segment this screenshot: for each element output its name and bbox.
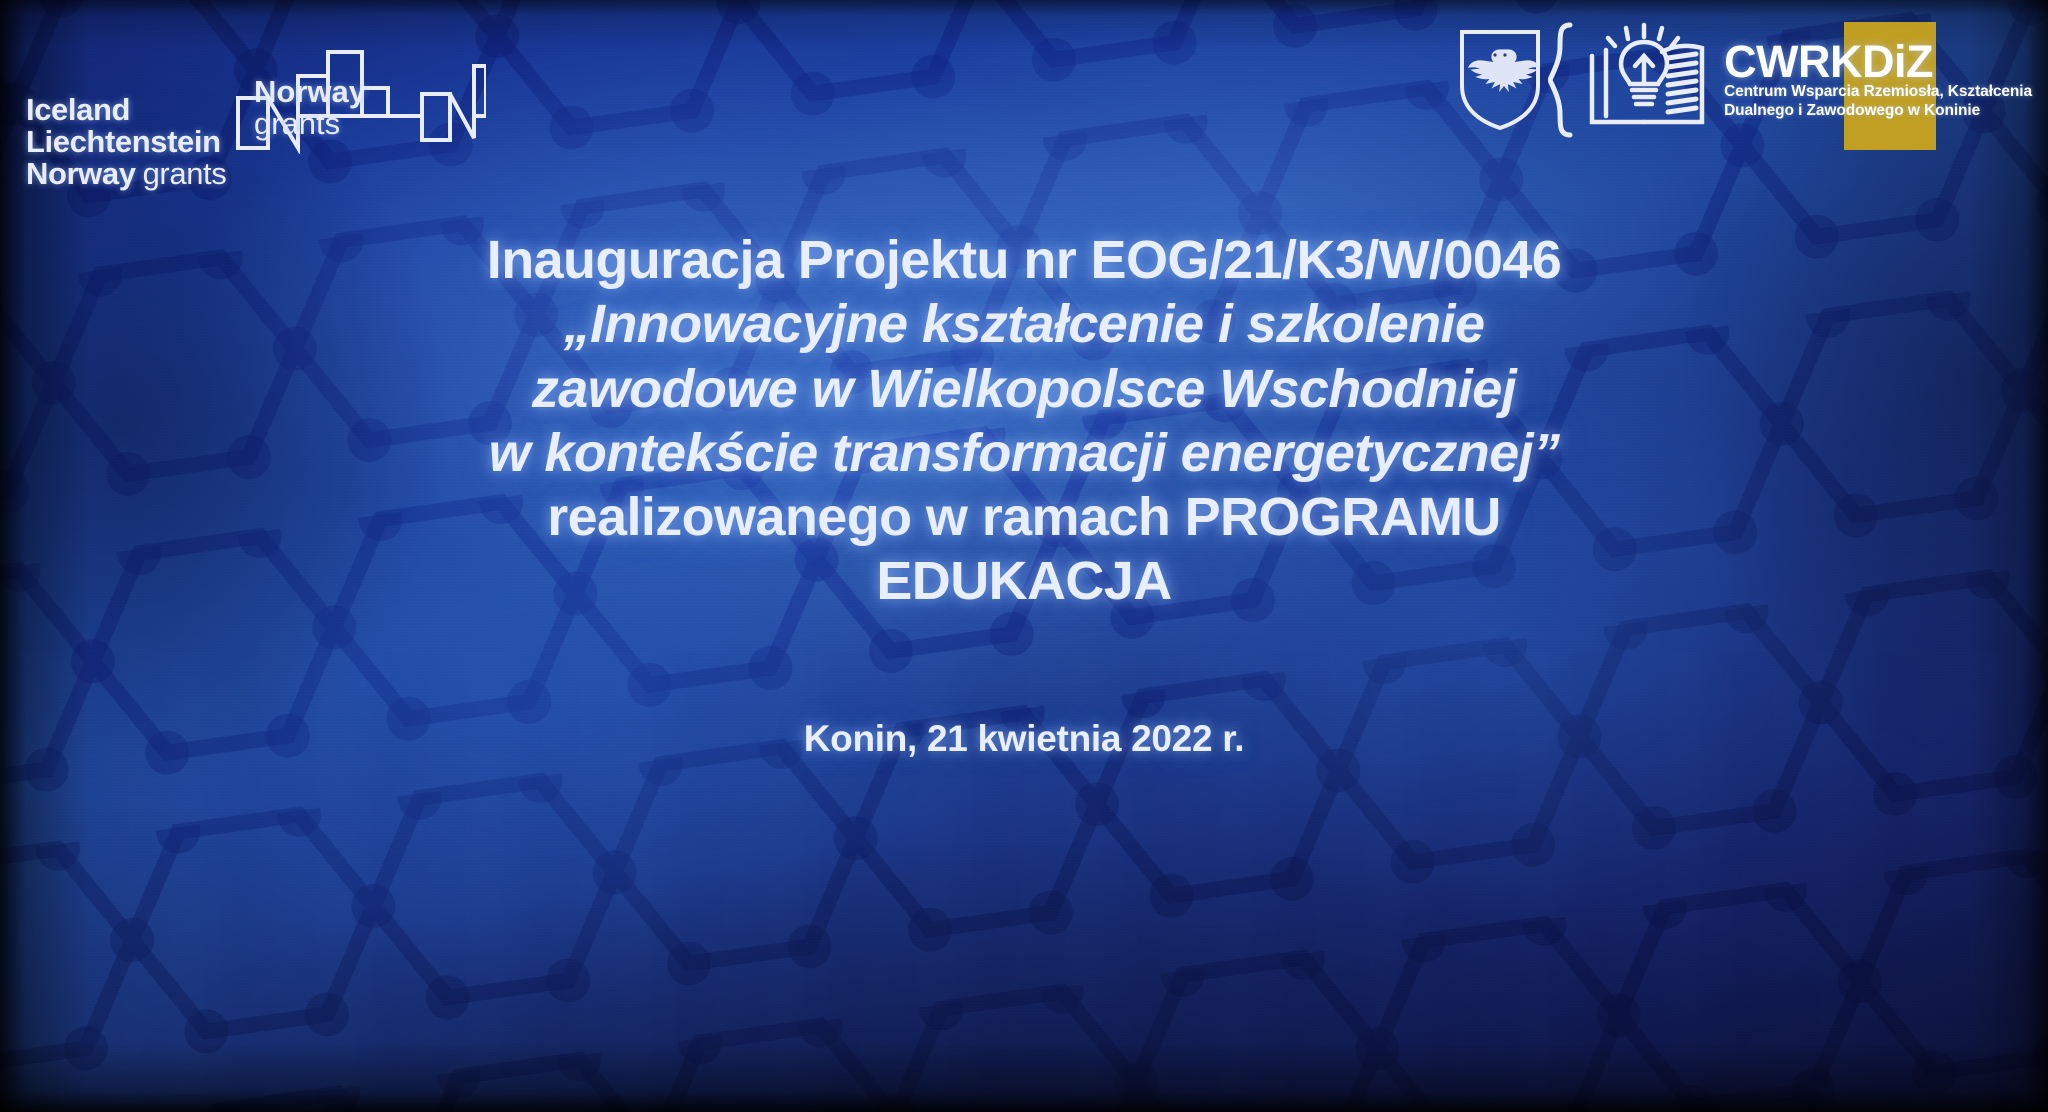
presentation-slide: Iceland Liechtenstein Norway grants <box>0 0 2048 1112</box>
slide-title-line-4: w kontekście transformacji energetycznej… <box>0 421 2048 485</box>
cwrkdiz-title: CWRKDiZ <box>1724 40 2032 83</box>
eea-logo-norway-bold: Norway <box>26 158 136 190</box>
cwrkdiz-wordmark: CWRKDiZ Centrum Wsparcia Rzemiosła, Kszt… <box>1724 40 2032 121</box>
eea-logo-line-iceland: Iceland <box>26 94 226 126</box>
slide-title-line-3: zawodowe w Wielkopolsce Wschodniej <box>0 357 2048 421</box>
open-book-lightbulb-icon <box>1578 22 1714 138</box>
eea-logo-line-liechtenstein: Liechtenstein <box>26 126 226 158</box>
eea-logo-line-norway-grants: Norway grants <box>26 158 226 190</box>
slide-title-line-1: Inauguracja Projektu nr EOG/21/K3/W/0046 <box>0 228 2048 292</box>
curly-brace-icon <box>1548 22 1576 138</box>
cwrkdiz-subtitle-line2: Dualnego i Zawodowego w Koninie <box>1724 102 2032 121</box>
eea-logo-grants-light: grants <box>143 158 227 190</box>
eea-logo-wordmark: Iceland Liechtenstein Norway grants <box>26 94 226 190</box>
cwrkdiz-logo: CWRKDiZ Centrum Wsparcia Rzemiosła, Kszt… <box>1458 22 2032 138</box>
slide-title-line-2: „Innowacyjne kształcenie i szkolenie <box>0 292 2048 356</box>
slide-title-line-5: realizowanego w ramach PROGRAMU <box>0 485 2048 549</box>
eea-norway-grants-logo: Iceland Liechtenstein Norway grants <box>26 42 486 190</box>
slide-title-line-6: EDUKACJA <box>0 549 2048 613</box>
place-and-date: Konin, 21 kwietnia 2022 r. <box>0 718 2048 760</box>
white-eagle-crest-icon <box>1458 28 1542 132</box>
cwrkdiz-subtitle-line1: Centrum Wsparcia Rzemiosła, Kształcenia <box>1724 83 2032 102</box>
norway-secondary-line1: Norway <box>254 76 366 108</box>
norway-grants-secondary-wordmark: Norway grants <box>254 76 366 140</box>
slide-footer: Konin, 21 kwietnia 2022 r. <box>0 718 2048 760</box>
norway-secondary-line2: grants <box>254 108 366 140</box>
slide-title-block: Inauguracja Projektu nr EOG/21/K3/W/0046… <box>0 228 2048 614</box>
